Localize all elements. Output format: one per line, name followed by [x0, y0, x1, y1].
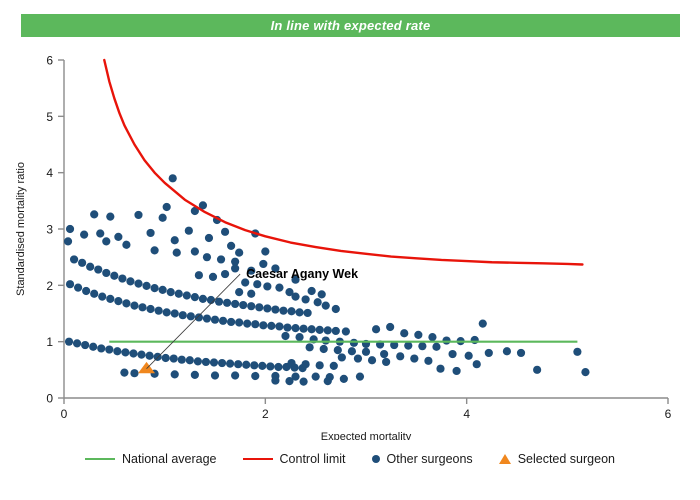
data-point-other-surgeon[interactable]	[263, 282, 271, 290]
data-point-other-surgeon[interactable]	[89, 343, 97, 351]
data-point-other-surgeon[interactable]	[517, 349, 525, 357]
data-point-other-surgeon[interactable]	[234, 360, 242, 368]
data-point-other-surgeon[interactable]	[167, 288, 175, 296]
data-point-other-surgeon[interactable]	[81, 341, 89, 349]
data-point-other-surgeon[interactable]	[170, 354, 178, 362]
x-axis-title: Expected mortality	[321, 431, 412, 440]
data-point-other-surgeon[interactable]	[102, 269, 110, 277]
data-point-other-surgeon[interactable]	[266, 362, 274, 370]
data-point-other-surgeon[interactable]	[146, 229, 154, 237]
data-point-other-surgeon[interactable]	[73, 339, 81, 347]
funnel-plot-svg: 01234560246 Expected mortality Standardi…	[0, 40, 700, 440]
data-point-other-surgeon[interactable]	[171, 370, 179, 378]
data-point-other-surgeon[interactable]	[210, 358, 218, 366]
data-point-other-surgeon[interactable]	[162, 354, 170, 362]
data-point-other-surgeon[interactable]	[247, 290, 255, 298]
data-point-other-surgeon[interactable]	[573, 348, 581, 356]
data-point-other-surgeon[interactable]	[306, 343, 314, 351]
x-tick-label: 2	[262, 407, 269, 421]
legend-dot-swatch	[372, 455, 380, 463]
data-point-other-surgeon[interactable]	[473, 360, 481, 368]
data-point-other-surgeon[interactable]	[223, 299, 231, 307]
data-point-other-surgeon[interactable]	[410, 354, 418, 362]
data-point-other-surgeon[interactable]	[356, 372, 364, 380]
y-tick-label: 3	[46, 223, 53, 237]
data-point-other-surgeon[interactable]	[354, 354, 362, 362]
data-point-other-surgeon[interactable]	[191, 293, 199, 301]
data-point-other-surgeon[interactable]	[126, 277, 134, 285]
data-point-other-surgeon[interactable]	[414, 331, 422, 339]
data-point-other-surgeon[interactable]	[163, 308, 171, 316]
data-point-other-surgeon[interactable]	[227, 318, 235, 326]
data-point-other-surgeon[interactable]	[350, 339, 358, 347]
data-point-other-surgeon[interactable]	[251, 372, 259, 380]
data-point-other-surgeon[interactable]	[340, 375, 348, 383]
legend-item-label: Control limit	[280, 452, 346, 466]
data-point-other-surgeon[interactable]	[219, 317, 227, 325]
data-point-other-surgeon[interactable]	[122, 241, 130, 249]
data-point-other-surgeon[interactable]	[322, 336, 330, 344]
data-point-other-surgeon[interactable]	[203, 253, 211, 261]
data-point-other-surgeon[interactable]	[428, 333, 436, 341]
data-point-other-surgeon[interactable]	[154, 353, 162, 361]
data-point-other-surgeon[interactable]	[106, 295, 114, 303]
selected-surgeon-triangle[interactable]	[139, 363, 154, 373]
data-point-other-surgeon[interactable]	[90, 290, 98, 298]
data-point-other-surgeon[interactable]	[253, 280, 261, 288]
data-point-other-surgeon[interactable]	[322, 302, 330, 310]
data-point-other-surgeon[interactable]	[105, 345, 113, 353]
data-point-other-surgeon[interactable]	[320, 345, 328, 353]
data-point-other-surgeon[interactable]	[179, 311, 187, 319]
data-point-other-surgeon[interactable]	[271, 305, 279, 313]
data-point-other-surgeon[interactable]	[250, 361, 258, 369]
data-point-other-surgeon[interactable]	[163, 203, 171, 211]
data-point-other-surgeon[interactable]	[98, 293, 106, 301]
data-point-other-surgeon[interactable]	[324, 377, 332, 385]
legend-item[interactable]: Other surgeons	[372, 452, 473, 466]
data-point-other-surgeon[interactable]	[235, 318, 243, 326]
data-point-other-surgeon[interactable]	[195, 271, 203, 279]
data-point-other-surgeon[interactable]	[202, 358, 210, 366]
data-point-other-surgeon[interactable]	[295, 308, 303, 316]
data-point-other-surgeon[interactable]	[453, 367, 461, 375]
data-point-other-surgeon[interactable]	[134, 280, 142, 288]
data-point-other-surgeon[interactable]	[209, 273, 217, 281]
data-point-other-surgeon[interactable]	[503, 347, 511, 355]
data-point-other-surgeon[interactable]	[94, 265, 102, 273]
y-tick-label: 2	[46, 279, 53, 293]
data-point-other-surgeon[interactable]	[299, 378, 307, 386]
data-point-other-surgeon[interactable]	[102, 237, 110, 245]
data-point-other-surgeon[interactable]	[287, 307, 295, 315]
data-point-other-surgeon[interactable]	[82, 287, 90, 295]
data-point-other-surgeon[interactable]	[259, 321, 267, 329]
data-point-other-surgeon[interactable]	[199, 295, 207, 303]
data-point-other-surgeon[interactable]	[130, 302, 138, 310]
data-point-other-surgeon[interactable]	[247, 302, 255, 310]
data-point-other-surgeon[interactable]	[302, 295, 310, 303]
data-point-other-surgeon[interactable]	[191, 247, 199, 255]
control-limit-curve	[104, 60, 582, 264]
data-point-other-surgeon[interactable]	[194, 357, 202, 365]
data-point-other-surgeon[interactable]	[171, 309, 179, 317]
axis-tick-labels: 01234560246	[46, 54, 671, 422]
data-point-other-surgeon[interactable]	[275, 322, 283, 330]
data-point-other-surgeon[interactable]	[274, 363, 282, 371]
data-point-other-surgeon[interactable]	[142, 282, 150, 290]
data-point-other-surgeon[interactable]	[271, 376, 279, 384]
data-point-other-surgeon[interactable]	[396, 352, 404, 360]
data-point-other-surgeon[interactable]	[380, 350, 388, 358]
data-point-other-surgeon[interactable]	[231, 300, 239, 308]
data-point-other-surgeon[interactable]	[338, 353, 346, 361]
data-point-other-surgeon[interactable]	[221, 228, 229, 236]
status-banner-label: In line with expected rate	[271, 18, 431, 33]
data-point-other-surgeon[interactable]	[372, 325, 380, 333]
data-point-other-surgeon[interactable]	[261, 247, 269, 255]
data-point-other-surgeon[interactable]	[138, 303, 146, 311]
data-point-other-surgeon[interactable]	[64, 237, 72, 245]
data-point-other-surgeon[interactable]	[169, 174, 177, 182]
data-point-other-surgeon[interactable]	[227, 242, 235, 250]
data-point-other-surgeon[interactable]	[332, 305, 340, 313]
data-point-other-surgeon[interactable]	[436, 365, 444, 373]
data-point-other-surgeon[interactable]	[211, 316, 219, 324]
data-point-other-surgeon[interactable]	[66, 225, 74, 233]
legend-item[interactable]: Selected surgeon	[499, 452, 615, 466]
data-point-other-surgeon[interactable]	[130, 369, 138, 377]
data-point-other-surgeon[interactable]	[279, 307, 287, 315]
legend-line-swatch	[243, 458, 273, 460]
y-tick-label: 5	[46, 110, 53, 124]
data-point-other-surgeon[interactable]	[151, 284, 159, 292]
data-point-other-surgeon[interactable]	[533, 366, 541, 374]
data-point-other-surgeon[interactable]	[120, 369, 128, 377]
annotation-label: Caesar Agany Wek	[246, 267, 358, 281]
data-point-other-surgeon[interactable]	[263, 304, 271, 312]
x-tick-label: 4	[463, 407, 470, 421]
data-point-other-surgeon[interactable]	[281, 332, 289, 340]
data-point-other-surgeon[interactable]	[80, 231, 88, 239]
data-point-other-surgeon[interactable]	[308, 325, 316, 333]
data-point-other-surgeon[interactable]	[442, 336, 450, 344]
data-point-other-surgeon[interactable]	[312, 372, 320, 380]
data-point-other-surgeon[interactable]	[348, 347, 356, 355]
data-point-other-surgeon[interactable]	[432, 343, 440, 351]
data-point-other-surgeon[interactable]	[235, 288, 243, 296]
chart-legend: National averageControl limitOther surge…	[0, 452, 700, 466]
data-point-other-surgeon[interactable]	[203, 314, 211, 322]
data-point-other-surgeon[interactable]	[134, 211, 142, 219]
data-point-other-surgeon[interactable]	[299, 325, 307, 333]
data-point-other-surgeon[interactable]	[155, 307, 163, 315]
data-point-other-surgeon[interactable]	[221, 270, 229, 278]
data-point-other-surgeon[interactable]	[291, 324, 299, 332]
data-point-other-surgeon[interactable]	[118, 274, 126, 282]
data-point-other-surgeon[interactable]	[191, 371, 199, 379]
data-point-other-surgeon[interactable]	[65, 338, 73, 346]
data-point-other-surgeon[interactable]	[302, 360, 310, 368]
data-point-other-surgeon[interactable]	[314, 298, 322, 306]
x-tick-label: 6	[665, 407, 672, 421]
data-point-other-surgeon[interactable]	[90, 210, 98, 218]
data-point-other-surgeon[interactable]	[581, 368, 589, 376]
data-point-other-surgeon[interactable]	[217, 255, 225, 263]
data-point-other-surgeon[interactable]	[242, 361, 250, 369]
data-point-other-surgeon[interactable]	[171, 236, 179, 244]
data-point-other-surgeon[interactable]	[207, 296, 215, 304]
control-limit-line	[104, 60, 582, 264]
y-tick-label: 0	[46, 392, 53, 406]
selected-surgeon-marker[interactable]	[139, 363, 154, 373]
data-point-other-surgeon[interactable]	[110, 272, 118, 280]
data-point-other-surgeon[interactable]	[471, 336, 479, 344]
data-point-other-surgeon[interactable]	[97, 344, 105, 352]
data-point-other-surgeon[interactable]	[424, 357, 432, 365]
data-point-other-surgeon[interactable]	[368, 356, 376, 364]
data-point-other-surgeon[interactable]	[308, 287, 316, 295]
data-point-other-surgeon[interactable]	[183, 291, 191, 299]
data-point-other-surgeon[interactable]	[334, 346, 342, 354]
data-point-other-surgeon[interactable]	[185, 227, 193, 235]
data-point-other-surgeon[interactable]	[86, 263, 94, 271]
data-point-other-surgeon[interactable]	[66, 280, 74, 288]
legend-item[interactable]: Control limit	[243, 452, 346, 466]
data-point-other-surgeon[interactable]	[211, 371, 219, 379]
y-tick-label: 4	[46, 166, 53, 180]
legend-item-label: Selected surgeon	[518, 452, 615, 466]
data-point-other-surgeon[interactable]	[159, 214, 167, 222]
data-point-other-surgeon[interactable]	[231, 371, 239, 379]
y-axis-title: Standardised mortality ratio	[15, 162, 27, 296]
data-point-other-surgeon[interactable]	[178, 356, 186, 364]
legend-line-swatch	[85, 458, 115, 460]
data-point-other-surgeon[interactable]	[96, 229, 104, 237]
data-point-other-surgeon[interactable]	[114, 297, 122, 305]
data-point-other-surgeon[interactable]	[226, 360, 234, 368]
data-point-other-surgeon[interactable]	[113, 347, 121, 355]
chart-container: 01234560246 Expected mortality Standardi…	[0, 40, 700, 440]
data-point-other-surgeon[interactable]	[151, 246, 159, 254]
data-point-other-surgeon[interactable]	[342, 327, 350, 335]
y-tick-label: 6	[46, 54, 53, 68]
data-point-other-surgeon[interactable]	[316, 326, 324, 334]
data-point-other-surgeon[interactable]	[173, 249, 181, 257]
data-point-other-surgeon[interactable]	[195, 313, 203, 321]
data-point-other-surgeon[interactable]	[70, 255, 78, 263]
data-point-other-surgeon[interactable]	[243, 320, 251, 328]
data-point-other-surgeon[interactable]	[121, 348, 129, 356]
data-point-other-surgeon[interactable]	[205, 234, 213, 242]
data-point-other-surgeon[interactable]	[114, 233, 122, 241]
data-point-other-surgeon[interactable]	[275, 283, 283, 291]
data-point-other-surgeon[interactable]	[255, 303, 263, 311]
data-point-other-surgeon[interactable]	[485, 349, 493, 357]
data-point-other-surgeon[interactable]	[175, 290, 183, 298]
data-point-other-surgeon[interactable]	[187, 312, 195, 320]
legend-triangle-swatch	[499, 454, 511, 464]
data-point-other-surgeon[interactable]	[330, 362, 338, 370]
data-point-other-surgeon[interactable]	[465, 352, 473, 360]
data-point-other-surgeon[interactable]	[122, 299, 130, 307]
data-point-other-surgeon[interactable]	[291, 293, 299, 301]
legend-item[interactable]: National average	[85, 452, 217, 466]
status-banner: In line with expected rate	[21, 14, 680, 37]
data-point-other-surgeon[interactable]	[316, 361, 324, 369]
data-point-other-surgeon[interactable]	[78, 259, 86, 267]
data-point-other-surgeon[interactable]	[362, 348, 370, 356]
data-point-other-surgeon[interactable]	[283, 323, 291, 331]
data-point-other-surgeon[interactable]	[267, 322, 275, 330]
data-point-other-surgeon[interactable]	[251, 320, 259, 328]
data-point-other-surgeon[interactable]	[324, 326, 332, 334]
legend-item-label: Other surgeons	[387, 452, 473, 466]
data-point-other-surgeon[interactable]	[145, 352, 153, 360]
data-point-other-surgeon[interactable]	[400, 329, 408, 337]
data-point-other-surgeon[interactable]	[386, 323, 394, 331]
data-point-other-surgeon[interactable]	[137, 351, 145, 359]
y-tick-label: 1	[46, 335, 53, 349]
data-point-other-surgeon[interactable]	[231, 258, 239, 266]
data-point-other-surgeon[interactable]	[218, 359, 226, 367]
data-point-other-surgeon[interactable]	[74, 283, 82, 291]
data-point-other-surgeon[interactable]	[418, 342, 426, 350]
legend-item-label: National average	[122, 452, 217, 466]
data-point-other-surgeon[interactable]	[129, 349, 137, 357]
data-point-other-surgeon[interactable]	[318, 290, 326, 298]
data-point-other-surgeon[interactable]	[382, 358, 390, 366]
data-point-other-surgeon[interactable]	[235, 249, 243, 257]
data-point-other-surgeon[interactable]	[448, 350, 456, 358]
data-point-other-surgeon[interactable]	[239, 301, 247, 309]
data-point-other-surgeon[interactable]	[146, 305, 154, 313]
funnel-plot-page: In line with expected rate 01234560246 E…	[0, 0, 700, 500]
data-point-other-surgeon[interactable]	[287, 359, 295, 367]
data-point-other-surgeon[interactable]	[159, 286, 167, 294]
data-point-other-surgeon[interactable]	[258, 362, 266, 370]
data-point-other-surgeon[interactable]	[186, 356, 194, 364]
data-point-other-surgeon[interactable]	[304, 309, 312, 317]
data-point-other-surgeon[interactable]	[285, 377, 293, 385]
data-point-other-surgeon[interactable]	[106, 213, 114, 221]
data-point-other-surgeon[interactable]	[332, 327, 340, 335]
data-point-other-surgeon[interactable]	[295, 333, 303, 341]
x-tick-label: 0	[61, 407, 68, 421]
data-point-other-surgeon[interactable]	[479, 320, 487, 328]
